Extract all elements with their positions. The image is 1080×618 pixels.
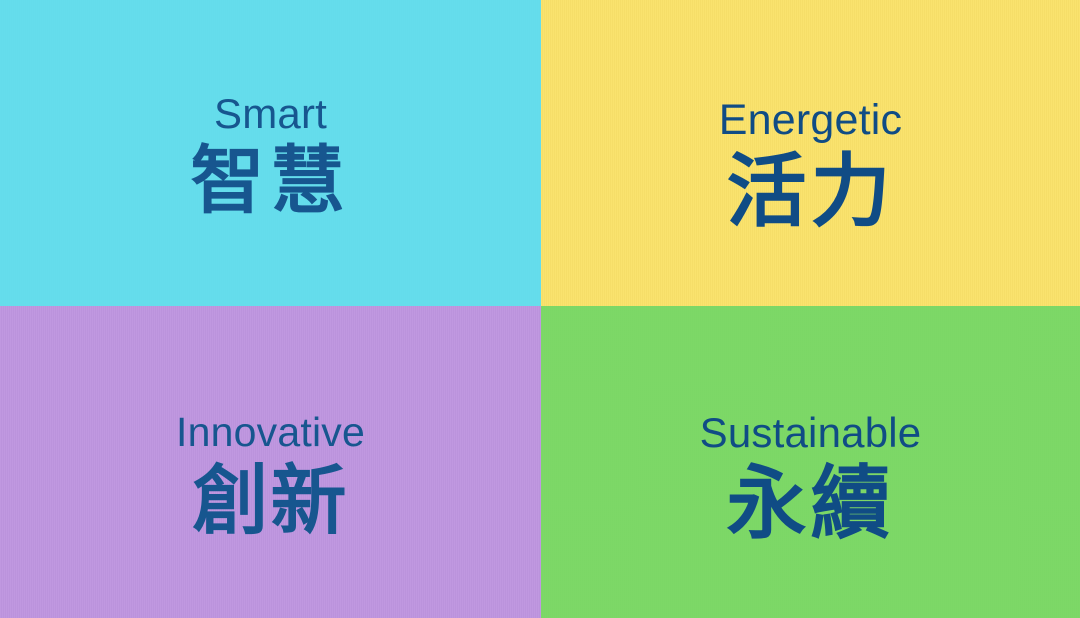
quadrant-sustainable[interactable]: Sustainable 永續 bbox=[541, 306, 1080, 618]
quadrant-innovative-chinese-label: 創新 bbox=[0, 458, 541, 543]
quadrant-smart-chinese-label: 智慧 bbox=[0, 140, 541, 223]
quadrant-innovative[interactable]: Innovative 創新 bbox=[0, 306, 541, 618]
quadrant-innovative-textblock: Innovative 創新 bbox=[0, 411, 541, 543]
quadrant-energetic-chinese-label: 活力 bbox=[541, 147, 1080, 237]
quadrant-sustainable-chinese-label: 永續 bbox=[541, 459, 1080, 549]
quadrant-energetic-textblock: Energetic 活力 bbox=[541, 98, 1080, 237]
quadrant-energetic-english-label: Energetic bbox=[541, 98, 1080, 143]
quadrant-smart-english-label: Smart bbox=[0, 92, 541, 136]
quadrant-sustainable-textblock: Sustainable 永續 bbox=[541, 411, 1080, 549]
brand-values-poster: Smart 智慧 Energetic 活力 Innovative 創新 Sust… bbox=[0, 0, 1080, 618]
quadrant-energetic[interactable]: Energetic 活力 bbox=[541, 0, 1080, 306]
quadrant-smart[interactable]: Smart 智慧 bbox=[0, 0, 541, 306]
quadrant-smart-textblock: Smart 智慧 bbox=[0, 92, 541, 223]
quadrant-sustainable-english-label: Sustainable bbox=[541, 411, 1080, 455]
quadrant-innovative-english-label: Innovative bbox=[0, 411, 541, 454]
quadrant-grid: Smart 智慧 Energetic 活力 Innovative 創新 Sust… bbox=[0, 0, 1080, 618]
